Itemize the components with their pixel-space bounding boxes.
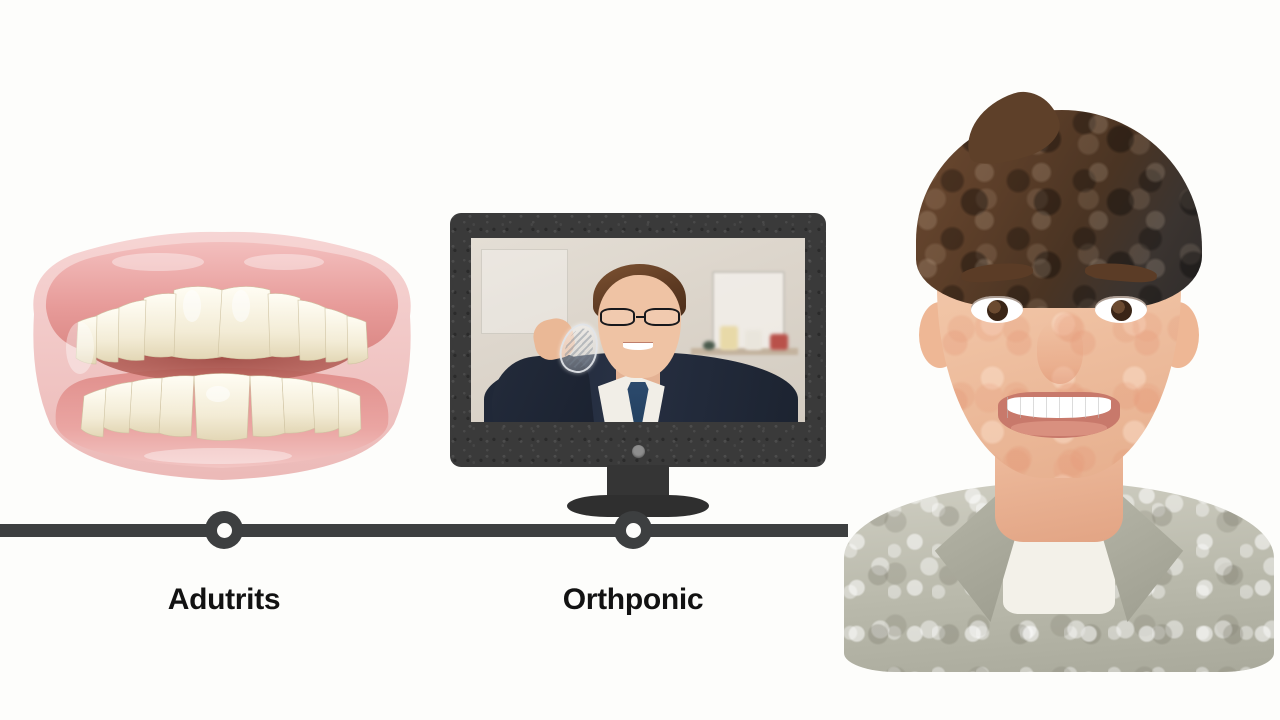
glasses-lens-left	[600, 308, 635, 326]
dental-model-illustration	[22, 228, 422, 490]
dental-model-svg	[22, 228, 422, 490]
glasses-lens-right	[644, 308, 679, 326]
dentist-head	[598, 275, 682, 378]
patient-mouth	[998, 392, 1120, 438]
monitor-screen-photo	[471, 238, 805, 422]
shelf-jar	[770, 334, 788, 351]
lower-teeth-row	[81, 374, 361, 441]
shelf-jar	[720, 326, 738, 350]
timeline-marker-icon[interactable]	[205, 511, 243, 549]
monitor-power-led	[632, 445, 645, 458]
timeline-marker-icon[interactable]	[614, 511, 652, 549]
shelf-jar	[703, 341, 715, 350]
shelf-jar	[745, 330, 762, 350]
patient-lower-lip	[1011, 421, 1107, 436]
timeline-bar	[0, 524, 848, 537]
patient-eye-right	[1095, 296, 1147, 323]
illustration-canvas: Adutrits Orthponic	[0, 0, 1280, 720]
timeline-label-2: Orthponic	[563, 583, 704, 617]
computer-monitor-illustration	[450, 213, 826, 511]
glasses-icon	[600, 308, 680, 326]
glasses-bridge	[636, 316, 644, 318]
patient-portrait-illustration	[838, 52, 1280, 672]
patient-hair	[916, 110, 1202, 308]
patient-eye-left	[971, 296, 1023, 323]
patient-teeth	[1007, 397, 1111, 418]
patient-nose	[1037, 322, 1083, 384]
timeline-label-1: Adutrits	[168, 583, 281, 617]
